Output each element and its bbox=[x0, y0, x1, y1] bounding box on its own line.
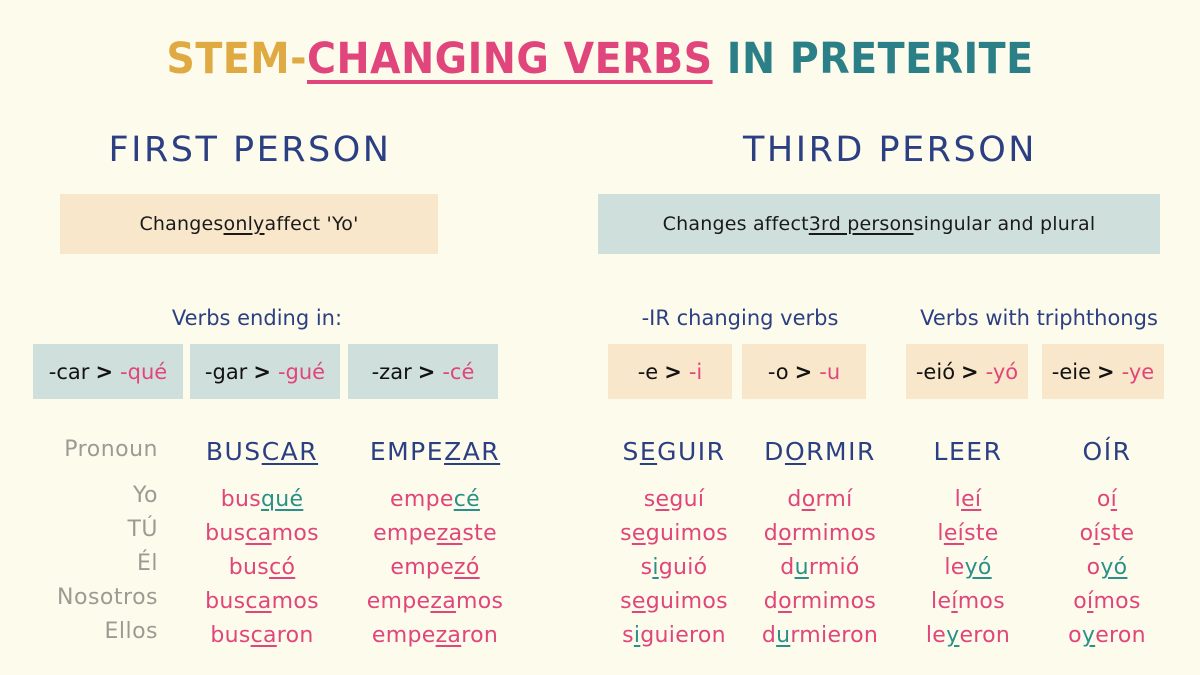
infinitive-stem: EMPE bbox=[370, 437, 444, 466]
form-ending: mos bbox=[272, 589, 319, 614]
pronoun-column-header: Pronoun bbox=[64, 437, 158, 462]
form-ending: ron bbox=[461, 623, 498, 648]
verb-form: seguí bbox=[644, 487, 705, 512]
verb-form: dormí bbox=[787, 487, 852, 512]
infinitive-tail: GUIR bbox=[657, 437, 725, 466]
form-change: zó bbox=[454, 555, 480, 580]
form-stem: d bbox=[764, 589, 778, 614]
rule-from: -e bbox=[638, 360, 659, 384]
form-ending: eron bbox=[1095, 623, 1146, 648]
infinitive-stem: D bbox=[764, 437, 785, 466]
form-stem: d bbox=[780, 555, 794, 580]
infinitive-highlight: ZAR bbox=[444, 437, 500, 466]
group-label-verbs-ending-in: Verbs ending in: bbox=[33, 306, 481, 330]
form-stem: bus bbox=[210, 623, 250, 648]
verb-form: busqué bbox=[221, 487, 304, 512]
verb-column-dormir: DORMIRdormídormimosdurmiódormimosdurmier… bbox=[740, 437, 900, 648]
form-ending: rmieron bbox=[790, 623, 878, 648]
verb-form: leímos bbox=[931, 589, 1005, 614]
verb-infinitive: SEGUIR bbox=[622, 437, 725, 466]
form-ending: mos bbox=[958, 589, 1005, 614]
form-ending: mos bbox=[456, 589, 503, 614]
verb-form: dormimos bbox=[764, 589, 876, 614]
verb-infinitive: EMPEZAR bbox=[370, 437, 500, 466]
rule-from: -zar bbox=[372, 360, 412, 384]
pronoun-ellos: Ellos bbox=[104, 619, 158, 644]
rule-to: -qué bbox=[120, 360, 167, 384]
verb-column-seguir: SEGUIRseguíseguimossiguióseguimossiguier… bbox=[598, 437, 750, 648]
rule-chip-eio-to-yo: -eió > -yó bbox=[906, 344, 1028, 399]
rule-chip-zar: -zar > -cé bbox=[348, 344, 498, 399]
form-stem: empe bbox=[373, 521, 437, 546]
form-change: o bbox=[778, 521, 792, 546]
verb-form: oyó bbox=[1087, 555, 1128, 580]
form-change: e bbox=[632, 589, 646, 614]
rule-from: -gar bbox=[205, 360, 247, 384]
pronoun-nosotros: Nosotros bbox=[57, 585, 158, 610]
rule-from: -car bbox=[49, 360, 90, 384]
form-ending: guimos bbox=[646, 589, 728, 614]
rule-to: -cé bbox=[442, 360, 474, 384]
form-change: za bbox=[430, 589, 456, 614]
form-stem: empe bbox=[367, 589, 431, 614]
greater-than-icon: > bbox=[795, 360, 813, 384]
infinitive-stem: BUS bbox=[206, 437, 262, 466]
form-ending: rmí bbox=[815, 487, 852, 512]
form-change: u bbox=[776, 623, 790, 648]
rule-chip-gar: -gar > -gué bbox=[190, 344, 340, 399]
pronoun-column: Pronoun Yo TÚ Él Nosotros Ellos bbox=[10, 437, 158, 644]
note-text-post: affect 'Yo' bbox=[265, 213, 359, 235]
form-stem: o bbox=[1068, 623, 1082, 648]
note-text-pre: Changes bbox=[139, 213, 223, 235]
rule-chip-eie-to-ye: -eie > -ye bbox=[1042, 344, 1164, 399]
form-ending: rmimos bbox=[792, 589, 876, 614]
infographic-page: STEM-CHANGING VERBS IN PRETERITE FIRST P… bbox=[0, 0, 1200, 675]
form-ending: guí bbox=[669, 487, 704, 512]
verb-form: siguieron bbox=[622, 623, 726, 648]
greater-than-icon: > bbox=[95, 360, 113, 384]
verb-column-buscar: BUSCARbusquébuscamosbuscóbuscamosbuscaro… bbox=[184, 437, 340, 648]
verb-form: seguimos bbox=[620, 589, 728, 614]
form-ending: guió bbox=[659, 555, 708, 580]
rule-from: -o bbox=[768, 360, 789, 384]
form-ending: ron bbox=[277, 623, 314, 648]
verb-form: dormimos bbox=[764, 521, 876, 546]
verb-form: buscó bbox=[229, 555, 295, 580]
form-ending: ste bbox=[1100, 521, 1135, 546]
verb-form: buscaron bbox=[210, 623, 313, 648]
note-text-post: singular and plural bbox=[914, 213, 1096, 235]
greater-than-icon: > bbox=[664, 360, 682, 384]
form-change: có bbox=[269, 555, 295, 580]
form-stem: s bbox=[620, 589, 632, 614]
rule-from: -eió bbox=[916, 360, 955, 384]
verb-infinitive: OÍR bbox=[1083, 437, 1132, 466]
form-ending: guieron bbox=[640, 623, 726, 648]
verb-form: empezamos bbox=[367, 589, 504, 614]
verb-form: buscamos bbox=[205, 521, 319, 546]
verb-form: leyó bbox=[944, 555, 991, 580]
form-change: yó bbox=[965, 555, 992, 580]
form-stem: o bbox=[1080, 521, 1094, 546]
form-stem: o bbox=[1097, 487, 1111, 512]
form-stem: s bbox=[641, 555, 653, 580]
section-heading-third-person: THIRD PERSON bbox=[600, 130, 1180, 170]
verb-form: buscamos bbox=[205, 589, 319, 614]
form-change: y bbox=[1082, 623, 1095, 648]
pronoun-yo: Yo bbox=[133, 483, 158, 508]
form-change: o bbox=[778, 589, 792, 614]
form-ending: rmió bbox=[809, 555, 860, 580]
verb-form: seguimos bbox=[620, 521, 728, 546]
verb-form: empezó bbox=[390, 555, 479, 580]
section-heading-first-person: FIRST PERSON bbox=[60, 130, 440, 170]
form-stem: o bbox=[1073, 589, 1087, 614]
form-change: za bbox=[436, 623, 462, 648]
verb-form: leí bbox=[955, 487, 982, 512]
pronoun-el: Él bbox=[137, 551, 158, 576]
verb-form: oímos bbox=[1073, 589, 1140, 614]
form-change: y bbox=[946, 623, 959, 648]
form-stem: s bbox=[622, 623, 634, 648]
infinitive-stem: OÍR bbox=[1083, 437, 1132, 466]
verb-form: leíste bbox=[937, 521, 998, 546]
form-stem: le bbox=[926, 623, 946, 648]
form-change: yó bbox=[1100, 555, 1127, 580]
form-stem: bus bbox=[221, 487, 261, 512]
greater-than-icon: > bbox=[1097, 360, 1115, 384]
infinitive-highlight: O bbox=[785, 437, 806, 466]
form-change: o bbox=[802, 487, 816, 512]
rule-to: -ye bbox=[1122, 360, 1155, 384]
verb-form: oyeron bbox=[1068, 623, 1146, 648]
title-part-preterite: IN PRETERITE bbox=[713, 34, 1034, 84]
rule-to: -yó bbox=[986, 360, 1018, 384]
verb-form: oí bbox=[1097, 487, 1117, 512]
form-ending: ste bbox=[964, 521, 999, 546]
rule-to: -i bbox=[689, 360, 702, 384]
form-change: í bbox=[1111, 487, 1117, 512]
note-banner-third-person: Changes affect 3rd person singular and p… bbox=[598, 194, 1160, 254]
form-change: ca bbox=[245, 521, 271, 546]
rule-to: -gué bbox=[278, 360, 325, 384]
form-change: ca bbox=[251, 623, 277, 648]
form-change: u bbox=[795, 555, 809, 580]
form-change: e bbox=[632, 521, 646, 546]
form-ending: rmimos bbox=[792, 521, 876, 546]
form-change: cé bbox=[454, 487, 480, 512]
note-banner-first-person: Changes only affect 'Yo' bbox=[60, 194, 438, 254]
title-part-changing: CHANGING VERBS bbox=[307, 34, 713, 84]
verb-infinitive: LEER bbox=[934, 437, 1003, 466]
form-stem: s bbox=[620, 521, 632, 546]
infinitive-stem: LEER bbox=[934, 437, 1003, 466]
form-change: eí bbox=[944, 521, 964, 546]
form-ending: mos bbox=[272, 521, 319, 546]
group-label-verbs-with-triphthongs: Verbs with triphthongs bbox=[898, 306, 1180, 330]
greater-than-icon: > bbox=[961, 360, 979, 384]
note-text-emph: 3rd person bbox=[809, 213, 914, 235]
form-stem: d bbox=[787, 487, 801, 512]
pronoun-tu: TÚ bbox=[127, 517, 158, 542]
verb-form: oíste bbox=[1080, 521, 1135, 546]
form-stem: le bbox=[944, 555, 964, 580]
form-ending: ste bbox=[462, 521, 497, 546]
form-stem: bus bbox=[205, 521, 245, 546]
infinitive-highlight: CAR bbox=[262, 437, 318, 466]
rule-to: -u bbox=[819, 360, 840, 384]
verb-infinitive: DORMIR bbox=[764, 437, 876, 466]
verb-form: siguió bbox=[641, 555, 708, 580]
title-part-stem: STEM- bbox=[166, 34, 307, 84]
form-stem: empe bbox=[372, 623, 436, 648]
form-ending: eron bbox=[959, 623, 1010, 648]
rule-chip-e-to-i: -e > -i bbox=[608, 344, 732, 399]
form-change: eí bbox=[961, 487, 981, 512]
verb-form: empezaron bbox=[372, 623, 498, 648]
infinitive-highlight: E bbox=[640, 437, 657, 466]
rule-chip-car: -car > -qué bbox=[33, 344, 183, 399]
verb-form: leyeron bbox=[926, 623, 1010, 648]
form-stem: d bbox=[762, 623, 776, 648]
page-title: STEM-CHANGING VERBS IN PRETERITE bbox=[48, 34, 1152, 84]
rule-from: -eie bbox=[1052, 360, 1091, 384]
form-change: za bbox=[437, 521, 463, 546]
note-text-emph: only bbox=[224, 213, 265, 235]
verb-column-leer: LEERleíleísteleyóleímosleyeron bbox=[902, 437, 1034, 648]
verb-form: durmió bbox=[780, 555, 859, 580]
verb-form: empecé bbox=[390, 487, 480, 512]
form-stem: d bbox=[764, 521, 778, 546]
greater-than-icon: > bbox=[418, 360, 436, 384]
note-text-pre: Changes affect bbox=[663, 213, 809, 235]
rule-chip-o-to-u: -o > -u bbox=[742, 344, 866, 399]
form-stem: bus bbox=[205, 589, 245, 614]
infinitive-tail: RMIR bbox=[806, 437, 876, 466]
form-stem: empe bbox=[390, 555, 454, 580]
infinitive-stem: S bbox=[622, 437, 639, 466]
verb-infinitive: BUSCAR bbox=[206, 437, 318, 466]
verb-form: empezaste bbox=[373, 521, 497, 546]
form-change: qué bbox=[261, 487, 303, 512]
form-ending: guimos bbox=[646, 521, 728, 546]
form-stem: s bbox=[644, 487, 656, 512]
group-label-ir-changing-verbs: -IR changing verbs bbox=[600, 306, 880, 330]
form-stem: o bbox=[1087, 555, 1101, 580]
form-change: ca bbox=[245, 589, 271, 614]
verb-form: durmieron bbox=[762, 623, 878, 648]
verb-column-oir: OÍRoíoísteoyóoímosoyeron bbox=[1038, 437, 1176, 648]
form-ending: mos bbox=[1093, 589, 1140, 614]
verb-column-empezar: EMPEZARempecéempezasteempezóempezamosemp… bbox=[345, 437, 525, 648]
form-stem: bus bbox=[229, 555, 269, 580]
greater-than-icon: > bbox=[253, 360, 271, 384]
form-stem: empe bbox=[390, 487, 454, 512]
form-stem: le bbox=[931, 589, 951, 614]
form-change: e bbox=[656, 487, 670, 512]
